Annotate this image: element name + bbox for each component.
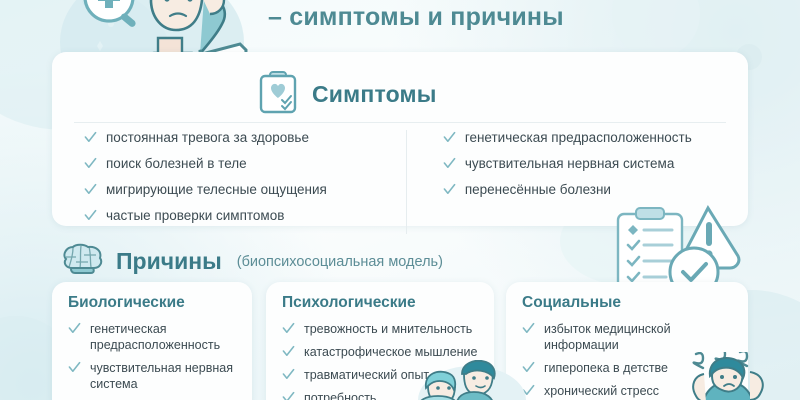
stressed-woman-illustration <box>680 352 790 400</box>
cause-item-label: избыток медицинской информации <box>544 321 736 353</box>
column-title: Биологические <box>68 294 240 312</box>
symptoms-list-left: постоянная тревога за здоровьепоиск боле… <box>52 130 406 234</box>
cause-item-label: гиперопека в детстве <box>544 360 668 376</box>
causes-subtitle: (биопсихосоциальная модель) <box>237 254 443 270</box>
check-icon <box>282 322 295 335</box>
cause-item-label: потребность <box>304 390 376 400</box>
cause-item-label: катастрофическое мышление <box>304 344 478 360</box>
symptom-item: частые проверки симптомов <box>84 208 406 225</box>
column-title: Психологические <box>282 294 482 312</box>
check-icon <box>522 322 535 335</box>
column-title: Социальные <box>522 294 736 312</box>
check-icon <box>84 183 97 196</box>
check-icon <box>443 183 456 196</box>
check-icon <box>84 209 97 222</box>
page-title: – симптомы и причины <box>268 0 738 38</box>
check-icon <box>84 157 97 170</box>
symptom-item: генетическая предрасположенность <box>443 130 748 147</box>
cause-item-label: чувствительная нервная система <box>90 360 240 392</box>
causes-heading: Причины <box>116 248 222 275</box>
cause-item: тревожность и мнительность <box>282 321 482 337</box>
symptom-item-label: частые проверки симптомов <box>106 208 284 225</box>
symptom-item: чувствительная нервная система <box>443 156 748 173</box>
symptom-item: поиск болезней в теле <box>84 156 406 173</box>
infographic-page: – симптомы и причины Симптомы постоянная… <box>0 0 800 400</box>
cause-item-label: тревожность и мнительность <box>304 321 472 337</box>
check-icon <box>282 345 295 358</box>
symptom-item-label: чувствительная нервная система <box>465 156 675 173</box>
symptom-item-label: поиск болезней в теле <box>106 156 247 173</box>
check-icon <box>282 368 295 381</box>
symptom-item: перенесённые болезни <box>443 182 748 199</box>
symptoms-divider <box>74 122 726 123</box>
symptom-item: мигрирующие телесные ощущения <box>84 182 406 199</box>
cause-item: чувствительная нервная система <box>68 360 240 392</box>
clipboard-heart-icon <box>258 70 298 119</box>
check-icon <box>68 322 81 335</box>
symptom-item-label: мигрирующие телесные ощущения <box>106 182 327 199</box>
check-icon <box>68 361 81 374</box>
symptoms-header: Симптомы <box>258 70 437 119</box>
column-list: генетическая предрасположенностьчувствит… <box>68 321 240 392</box>
cause-item: избыток медицинской информации <box>522 321 736 353</box>
symptom-item-label: постоянная тревога за здоровье <box>106 130 309 147</box>
cause-item-label: генетическая предрасположенность <box>90 321 240 353</box>
causes-header: Причины (биопсихосоциальная модель) <box>60 243 443 280</box>
check-icon <box>443 131 456 144</box>
page-title-text: – симптомы и причины <box>268 3 564 32</box>
check-icon <box>84 131 97 144</box>
cause-item-label: хронический стресс <box>544 383 659 399</box>
couple-illustration <box>398 360 526 400</box>
symptom-item-label: генетическая предрасположенность <box>465 130 692 147</box>
check-icon <box>443 157 456 170</box>
symptom-item: постоянная тревога за здоровье <box>84 130 406 147</box>
brain-icon <box>60 243 104 280</box>
symptoms-heading: Симптомы <box>312 81 437 108</box>
cause-item: катастрофическое мышление <box>282 344 482 360</box>
symptom-item-label: перенесённые болезни <box>465 182 611 199</box>
cause-item: генетическая предрасположенность <box>68 321 240 353</box>
causes-column-biological: Биологические генетическая предрасположе… <box>52 282 252 400</box>
check-icon <box>282 391 295 400</box>
